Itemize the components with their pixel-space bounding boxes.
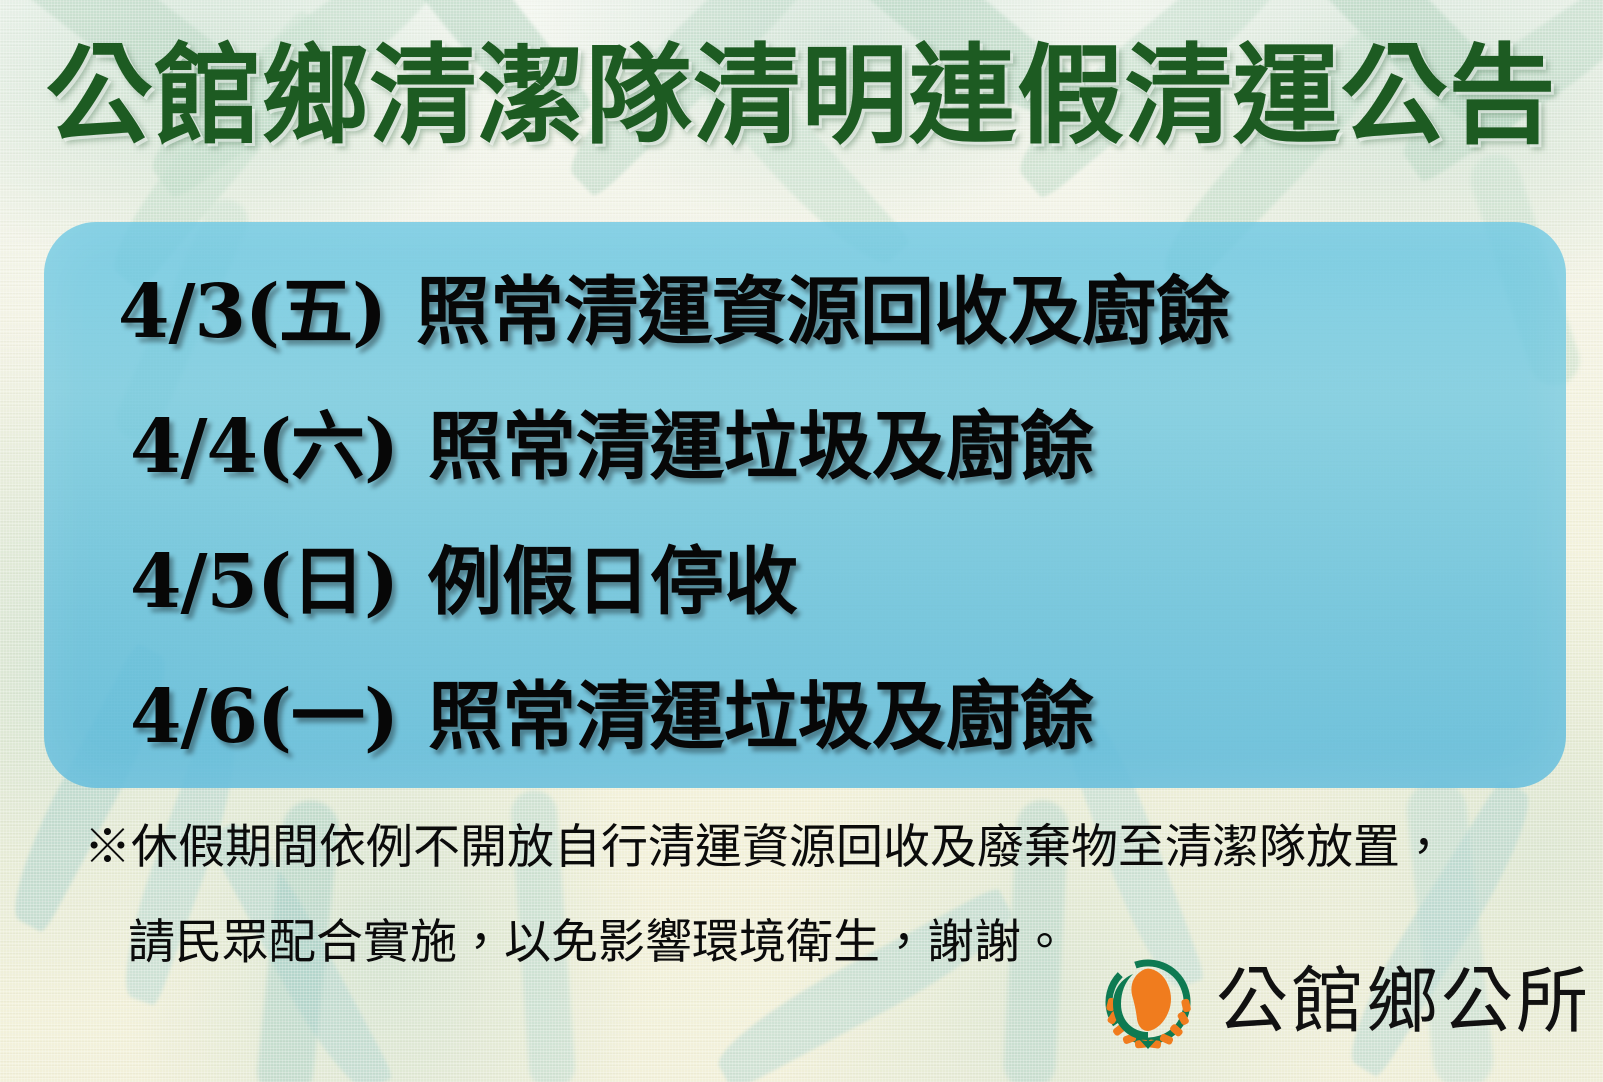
schedule-description: 例假日停收 — [428, 522, 798, 629]
office-name-label: 公館鄉公所 — [1216, 965, 1591, 1043]
schedule-row: 4/5(日) 例假日停收 — [44, 522, 1566, 657]
schedule-row: 4/4(六) 照常清運垃圾及廚餘 — [44, 387, 1566, 522]
schedule-date: 4/4(六) — [130, 387, 398, 494]
notice-line-2: 請民眾配合實施，以免影響環境衛生，謝謝。 — [128, 915, 1068, 971]
office-signature: 公館鄉公所 — [1096, 952, 1591, 1056]
schedule-description: 照常清運資源回收及廚餘 — [416, 252, 1230, 359]
schedule-panel: 4/3(五) 照常清運資源回收及廚餘 4/4(六) 照常清運垃圾及廚餘 4/5(… — [44, 222, 1566, 788]
schedule-row-list: 4/3(五) 照常清運資源回收及廚餘 4/4(六) 照常清運垃圾及廚餘 4/5(… — [44, 222, 1566, 788]
poster-title: 公館鄉清潔隊清明連假清運公告 — [46, 42, 1557, 150]
schedule-description: 照常清運垃圾及廚餘 — [428, 387, 1094, 494]
notice-line-1: ※休假期間依例不開放自行清運資源回收及廢棄物至清潔隊放置， — [84, 820, 1447, 876]
schedule-date: 4/3(五) — [118, 252, 386, 359]
schedule-date: 4/5(日) — [130, 522, 398, 629]
schedule-description: 照常清運垃圾及廚餘 — [428, 657, 1094, 764]
schedule-date: 4/6(一) — [130, 657, 398, 764]
schedule-row: 4/6(一) 照常清運垃圾及廚餘 — [44, 657, 1566, 792]
gongguan-township-office-emblem-icon — [1096, 952, 1200, 1056]
schedule-row: 4/3(五) 照常清運資源回收及廚餘 — [44, 252, 1566, 387]
poster-title-container: 公館鄉清潔隊清明連假清運公告 — [0, 42, 1603, 150]
announcement-poster: 公館鄉清潔隊清明連假清運公告 4/3(五) 照常清運資源回收及廚餘 4/4(六)… — [0, 0, 1603, 1082]
